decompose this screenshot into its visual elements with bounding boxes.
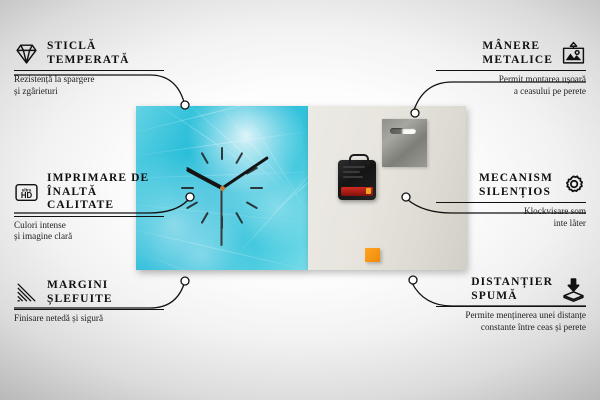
metal-hanger-plate (382, 119, 427, 167)
callout-title-line: IMPRIMARE DE (47, 172, 164, 186)
callout-title-line: MECANISM (479, 172, 553, 186)
callout-rule (436, 306, 586, 307)
callout-title-line: TEMPERATĂ (47, 54, 130, 68)
callout-desc-line: Culori intense (14, 220, 164, 231)
callout-desc-line: Finisare netedă și sigură (14, 313, 164, 324)
callout-title-line: STICLĂ (47, 40, 130, 54)
foam-spacer (365, 248, 380, 262)
callout-desc-line: constante între ceas și perete (436, 322, 586, 333)
press-down-icon (561, 277, 586, 302)
callout-desc-line: Permite menținerea unei distanțe (436, 310, 586, 321)
callout-title-line: SPUMĂ (471, 290, 553, 304)
callout-rule (436, 70, 586, 71)
callout-desc-line: inte låter (436, 218, 586, 229)
mechanism-hanging-loop (349, 154, 369, 165)
callout-foam-spacer: DISTANȚIER SPUMĂ Permite menținerea unei… (436, 276, 586, 333)
gear-icon (561, 173, 586, 198)
callout-rule (14, 216, 164, 217)
product-image (136, 106, 466, 270)
hanger-keyhole-slot (390, 128, 416, 134)
mechanism-ridge (343, 176, 363, 178)
hand-pivot (220, 186, 225, 191)
callout-rule (14, 309, 164, 310)
callout-title-line: MARGINI (47, 279, 113, 293)
picture-frame-icon (561, 41, 586, 66)
callout-metal-handles: MÂNERE METALICE Permit montarea ușoară a… (436, 40, 586, 97)
callout-polished-edges: MARGINI ȘLEFUITE Finisare netedă și sigu… (14, 279, 164, 325)
callout-desc-line: și imagine clară (14, 231, 164, 242)
callout-desc-line: a ceasului pe perete (436, 86, 586, 97)
callout-desc-line: Permit montarea ușoară (436, 74, 586, 85)
svg-text:HD: HD (21, 191, 33, 200)
feather-stroke (136, 106, 276, 117)
callout-title-line: METALICE (482, 54, 553, 68)
callout-desc-line: Klockvisare som (436, 206, 586, 217)
mechanism-ridge (343, 171, 360, 173)
callout-title-line: MÂNERE (482, 40, 553, 54)
callout-rule (14, 70, 164, 71)
battery (341, 187, 373, 196)
polished-edge-icon (14, 280, 39, 305)
callout-desc-line: și zgârieturi (14, 86, 164, 97)
callout-title-line: SILENȚIOS (479, 186, 553, 200)
callout-rule (436, 202, 586, 203)
callout-title-line: DISTANȚIER (471, 276, 553, 290)
callout-high-quality-print: ultra HD IMPRIMARE DE ÎNALTĂ CALITATE Cu… (14, 172, 164, 243)
clock-mechanism (338, 160, 376, 200)
callout-tempered-glass: STICLĂ TEMPERATĂ Rezistență la spargere … (14, 40, 164, 97)
infographic-canvas: STICLĂ TEMPERATĂ Rezistență la spargere … (0, 0, 600, 400)
callout-desc-line: Rezistență la spargere (14, 74, 164, 85)
callout-title-line: ÎNALTĂ CALITATE (47, 186, 164, 213)
mechanism-ridge (343, 166, 365, 168)
callout-title-line: ȘLEFUITE (47, 293, 113, 307)
callout-silent-mechanism: MECANISM SILENȚIOS Klockvisare som inte … (436, 172, 586, 229)
ultra-hd-icon: ultra HD (14, 180, 39, 205)
diamond-icon (14, 41, 39, 66)
